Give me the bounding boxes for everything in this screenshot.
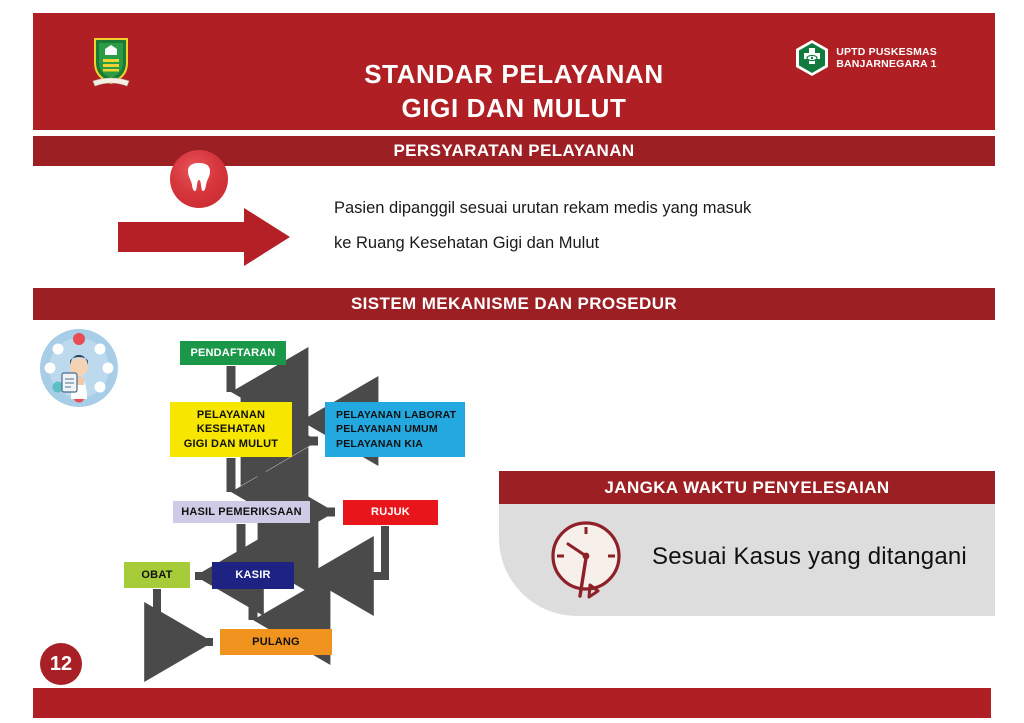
jangka-waktu-panel: JANGKA WAKTU PENYELESAIAN Sesuai Kasus y… <box>499 471 995 616</box>
red-right-arrow-icon <box>118 208 290 271</box>
slide-canvas: STANDAR PELAYANAN GIGI DAN MULUT UPTD PU… <box>0 0 1024 723</box>
flow-node-lab-label: PELAYANAN LABORAT PELAYANAN UMUM PELAYAN… <box>336 408 456 452</box>
flow-node-pendaftaran-label: PENDAFTARAN <box>190 346 275 361</box>
flow-node-rujuk-label: RUJUK <box>371 505 410 520</box>
flow-node-obat[interactable]: OBAT <box>124 562 190 588</box>
page-title-line1: STANDAR PELAYANAN <box>364 59 664 89</box>
persyaratan-text-line1: Pasien dipanggil sesuai urutan rekam med… <box>334 191 934 226</box>
flow-node-pendaftaran[interactable]: PENDAFTARAN <box>180 341 286 365</box>
jangka-waktu-banner: JANGKA WAKTU PENYELESAIAN <box>499 471 995 504</box>
header-bar: STANDAR PELAYANAN GIGI DAN MULUT UPTD PU… <box>33 13 995 130</box>
persyaratan-text-line2: ke Ruang Kesehatan Gigi dan Mulut <box>334 226 934 261</box>
flow-node-pulang-label: PULANG <box>252 635 300 650</box>
flow-node-pulang[interactable]: PULANG <box>220 629 332 655</box>
jangka-waktu-value: Sesuai Kasus yang ditangani <box>652 543 967 571</box>
doctor-medical-icons-illustration-icon <box>38 327 120 409</box>
page-number-badge: 12 <box>40 643 82 685</box>
puskesmas-name-label: UPTD PUSKESMAS BANJARNEGARA 1 <box>836 46 937 71</box>
flow-node-rujuk[interactable]: RUJUK <box>343 500 438 525</box>
flow-node-pelayanan-kesehatan-gigi-dan-mulut[interactable]: PELAYANAN KESEHATAN GIGI DAN MULUT <box>170 402 292 457</box>
puskesmas-branding: UPTD PUSKESMAS BANJARNEGARA 1 <box>795 39 937 77</box>
tooth-icon <box>170 150 228 208</box>
flow-node-hasil-pemeriksaan[interactable]: HASIL PEMERIKSAAN <box>173 501 310 523</box>
footer-bar <box>33 688 991 718</box>
section-banner-sistem-mekanisme: SISTEM MEKANISME DAN PROSEDUR <box>33 288 995 320</box>
flow-node-obat-label: OBAT <box>141 568 172 583</box>
page-title-line2: GIGI DAN MULUT <box>33 91 995 125</box>
flow-node-pelayanan-label: PELAYANAN KESEHATAN GIGI DAN MULUT <box>184 408 278 452</box>
puskesmas-hexagon-cross-icon <box>795 39 829 77</box>
flow-node-pelayanan-laborat-umum-kia[interactable]: PELAYANAN LABORAT PELAYANAN UMUM PELAYAN… <box>325 402 465 457</box>
flow-node-kasir[interactable]: KASIR <box>212 562 294 589</box>
flow-node-kasir-label: KASIR <box>235 568 270 583</box>
clock-icon <box>548 518 628 603</box>
flow-node-hasil-label: HASIL PEMERIKSAAN <box>181 505 302 520</box>
persyaratan-description: Pasien dipanggil sesuai urutan rekam med… <box>334 191 934 261</box>
